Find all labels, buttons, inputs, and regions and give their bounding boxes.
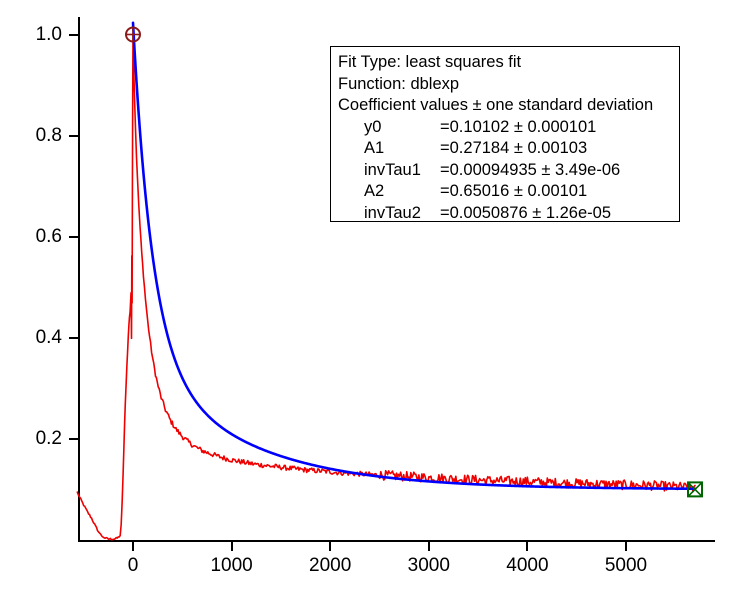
fit-function-line: Function: dblexp (338, 74, 679, 96)
coefficient-value: =0.10102 ± 0.000101 (440, 117, 596, 139)
coefficient-name: A2 (364, 181, 440, 203)
coefficient-value: =0.65016 ± 0.00101 (440, 181, 587, 203)
coefficient-header: Coefficient values ± one standard deviat… (338, 95, 679, 117)
coefficient-name: invTau2 (364, 203, 440, 225)
coefficient-row: A2=0.65016 ± 0.00101 (338, 181, 679, 203)
coefficient-value: =0.00094935 ± 3.49e-06 (440, 160, 620, 182)
coefficient-rows: y0=0.10102 ± 0.000101A1=0.27184 ± 0.0010… (338, 117, 679, 225)
coefficient-row: invTau2=0.0050876 ± 1.26e-05 (338, 203, 679, 225)
fit-results-box[interactable]: Fit Type: least squares fit Function: db… (330, 46, 680, 222)
fit-type-line: Fit Type: least squares fit (338, 52, 679, 74)
coefficient-value: =0.27184 ± 0.00103 (440, 138, 587, 160)
coefficient-row: A1=0.27184 ± 0.00103 (338, 138, 679, 160)
coefficient-name: A1 (364, 138, 440, 160)
coefficient-row: y0=0.10102 ± 0.000101 (338, 117, 679, 139)
coefficient-name: invTau1 (364, 160, 440, 182)
coefficient-row: invTau1=0.00094935 ± 3.49e-06 (338, 160, 679, 182)
cursor-a-marker[interactable] (126, 28, 140, 42)
coefficient-name: y0 (364, 117, 440, 139)
coefficient-value: =0.0050876 ± 1.26e-05 (440, 203, 611, 225)
plot-canvas: 0.20.40.60.81.0 010002000300040005000 Fi… (0, 0, 734, 592)
